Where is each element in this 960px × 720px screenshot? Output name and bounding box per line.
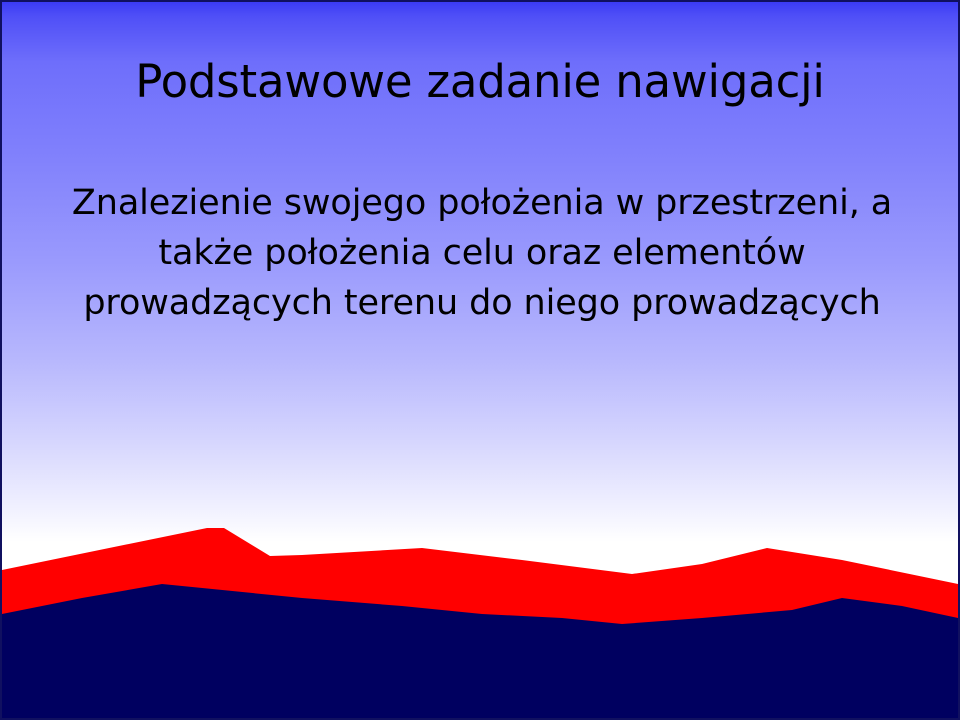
body-line-3: prowadzących terenu do niego prowadzącyc… (40, 278, 924, 328)
body-line-1: Znalezienie swojego położenia w przestrz… (40, 178, 924, 228)
slide-body-text: Znalezienie swojego położenia w przestrz… (40, 178, 924, 328)
body-line-2: także położenia celu oraz elementów (40, 228, 924, 278)
slide-title: Podstawowe zadanie nawigacji (2, 58, 958, 107)
presentation-slide: Podstawowe zadanie nawigacji Znalezienie… (0, 0, 960, 720)
slide-text-layer: Podstawowe zadanie nawigacji Znalezienie… (2, 2, 958, 718)
